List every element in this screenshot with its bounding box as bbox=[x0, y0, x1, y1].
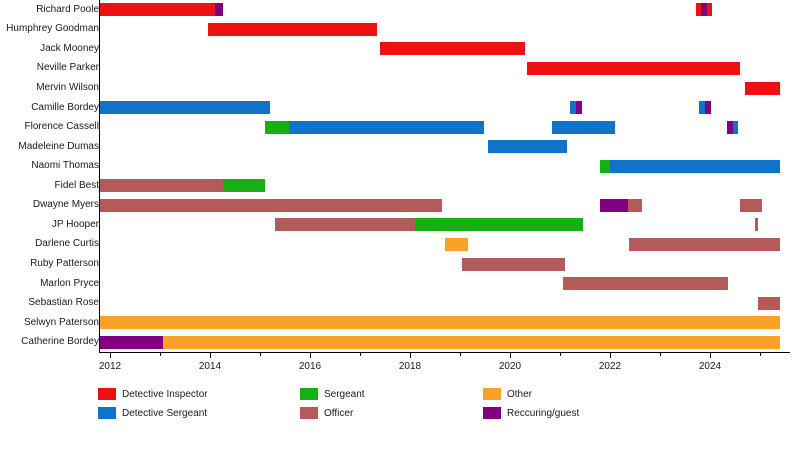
row-label: Camille Bordey bbox=[3, 103, 99, 113]
legend-label: Sergeant bbox=[324, 389, 365, 400]
plot-area bbox=[99, 0, 790, 352]
x-axis-tick bbox=[710, 352, 711, 358]
row-label: Sebastian Rose bbox=[3, 298, 99, 308]
x-axis-tick-label: 2020 bbox=[499, 361, 521, 372]
row-label: Marlon Pryce bbox=[3, 279, 99, 289]
x-axis-minor-tick bbox=[360, 352, 361, 356]
gantt-bar-segment bbox=[265, 121, 289, 134]
gantt-bar-segment bbox=[488, 140, 567, 153]
gantt-bar-segment bbox=[552, 121, 615, 134]
row-label: Madeleine Dumas bbox=[3, 142, 99, 152]
x-axis-minor-tick bbox=[260, 352, 261, 356]
row-label: Selwyn Paterson bbox=[3, 318, 99, 328]
legend-label: Reccuring/guest bbox=[507, 408, 579, 419]
gantt-bar-segment bbox=[563, 277, 728, 290]
legend-swatch bbox=[300, 388, 318, 400]
gantt-bar-segment bbox=[100, 101, 270, 114]
x-axis-minor-tick bbox=[760, 352, 761, 356]
x-axis-tick-label: 2018 bbox=[399, 361, 421, 372]
gantt-bar-segment bbox=[215, 3, 223, 16]
legend-swatch bbox=[300, 407, 318, 419]
x-axis-tick-label: 2024 bbox=[699, 361, 721, 372]
gantt-bar-segment bbox=[576, 101, 582, 114]
legend-label: Detective Inspector bbox=[122, 389, 208, 400]
row-label: Florence Cassell bbox=[3, 122, 99, 132]
x-axis-tick-label: 2022 bbox=[599, 361, 621, 372]
row-label: Ruby Patterson bbox=[3, 259, 99, 269]
gantt-bar-segment bbox=[705, 101, 711, 114]
x-axis-line bbox=[99, 352, 790, 353]
row-label: Catherine Bordey bbox=[3, 337, 99, 347]
gantt-bar-segment bbox=[100, 316, 780, 329]
x-axis-tick bbox=[610, 352, 611, 358]
row-label: Jack Mooney bbox=[3, 44, 99, 54]
x-axis-tick-label: 2016 bbox=[299, 361, 321, 372]
gantt-bar-segment bbox=[707, 3, 713, 16]
legend-swatch bbox=[483, 407, 501, 419]
gantt-bar-segment bbox=[733, 121, 738, 134]
gantt-bar-segment bbox=[100, 336, 780, 349]
gantt-bar-segment bbox=[758, 297, 780, 310]
gantt-bar-segment bbox=[275, 218, 415, 231]
x-axis-tick-label: 2014 bbox=[199, 361, 221, 372]
gantt-bar-segment bbox=[445, 238, 468, 251]
gantt-bar-segment bbox=[462, 258, 565, 271]
x-axis-minor-tick bbox=[560, 352, 561, 356]
x-axis-minor-tick bbox=[160, 352, 161, 356]
gantt-bar-segment bbox=[415, 218, 583, 231]
gantt-bar-segment bbox=[600, 199, 628, 212]
x-axis-tick bbox=[110, 352, 111, 358]
legend-swatch bbox=[98, 388, 116, 400]
gantt-bar-segment bbox=[100, 199, 442, 212]
gantt-bar-segment bbox=[100, 179, 223, 192]
row-label: Richard Poole bbox=[3, 5, 99, 15]
legend-label: Detective Sergeant bbox=[122, 408, 207, 419]
gantt-bar-segment bbox=[610, 160, 780, 173]
x-axis-minor-tick bbox=[460, 352, 461, 356]
chart-legend: Detective InspectorDetective SergeantSer… bbox=[0, 388, 800, 443]
row-label: Fidel Best bbox=[3, 181, 99, 191]
row-label-column: Richard PooleHumphrey GoodmanJack Mooney… bbox=[0, 0, 99, 352]
x-axis-tick bbox=[410, 352, 411, 358]
legend-label: Other bbox=[507, 389, 532, 400]
gantt-bar-segment bbox=[100, 3, 215, 16]
gantt-bar-segment bbox=[527, 62, 740, 75]
gantt-bar-segment bbox=[629, 238, 780, 251]
row-label: Mervin Wilson bbox=[3, 83, 99, 93]
x-axis-minor-tick bbox=[660, 352, 661, 356]
gantt-bar-segment bbox=[100, 336, 163, 349]
row-label: Neville Parker bbox=[3, 63, 99, 73]
gantt-bar-segment bbox=[740, 199, 762, 212]
gantt-bar-segment bbox=[628, 199, 642, 212]
gantt-bar-segment bbox=[745, 82, 780, 95]
x-axis-tick bbox=[210, 352, 211, 358]
gantt-bar-segment bbox=[289, 121, 484, 134]
x-axis-tick bbox=[510, 352, 511, 358]
x-axis-tick-label: 2012 bbox=[99, 361, 121, 372]
gantt-bar-segment bbox=[223, 179, 265, 192]
row-label: Humphrey Goodman bbox=[3, 24, 99, 34]
gantt-bar-segment bbox=[600, 160, 610, 173]
gantt-bar-segment bbox=[208, 23, 377, 36]
gantt-bar-segment bbox=[755, 218, 758, 231]
legend-swatch bbox=[98, 407, 116, 419]
row-label: Naomi Thomas bbox=[3, 161, 99, 171]
gantt-chart: Richard PooleHumphrey GoodmanJack Mooney… bbox=[0, 0, 800, 450]
row-label: Dwayne Myers bbox=[3, 200, 99, 210]
gantt-bar-segment bbox=[380, 42, 525, 55]
legend-label: Officer bbox=[324, 408, 353, 419]
row-label: JP Hooper bbox=[3, 220, 99, 230]
x-axis-tick bbox=[310, 352, 311, 358]
legend-swatch bbox=[483, 388, 501, 400]
row-label: Darlene Curtis bbox=[3, 239, 99, 249]
